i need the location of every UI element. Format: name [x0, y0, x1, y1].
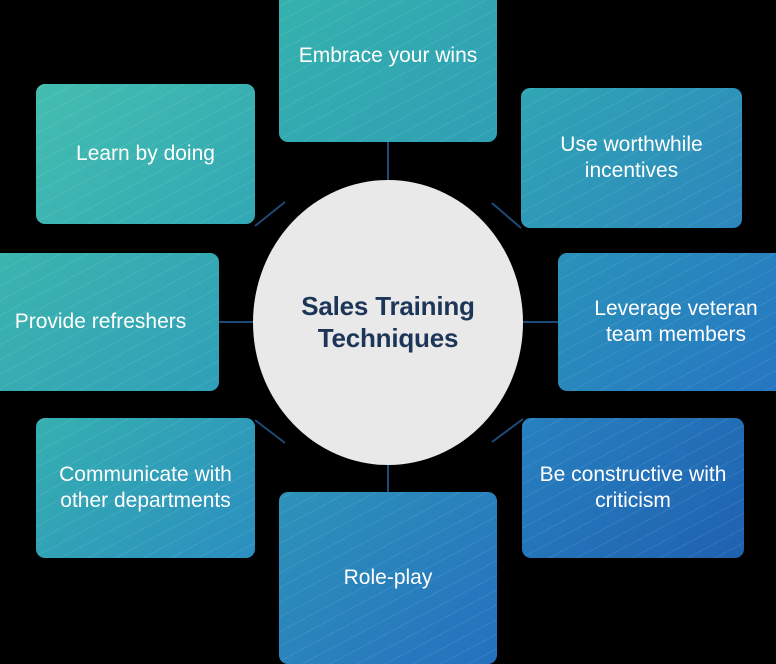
node-role-play[interactable]: Role-play — [279, 492, 497, 664]
connector-bottom-left — [255, 420, 285, 443]
diagram-canvas: Sales Training Techniques Embrace your w… — [0, 0, 776, 632]
node-label: Learn by doing — [64, 141, 227, 167]
center-hub-label: Sales Training Techniques — [287, 291, 489, 354]
node-label: Provide refreshers — [3, 309, 199, 335]
node-label: Use worthwhile incentives — [521, 132, 742, 185]
center-hub-line1: Sales Training — [301, 291, 475, 321]
node-learn-by-doing[interactable]: Learn by doing — [36, 84, 255, 224]
center-hub-line2: Techniques — [318, 323, 459, 353]
node-be-constructive-with-criticism[interactable]: Be constructive with criticism — [522, 418, 744, 558]
node-communicate-with-other-departments[interactable]: Communicate with other departments — [36, 418, 255, 558]
node-leverage-veteran-team-members[interactable]: Leverage veteran team members — [558, 253, 776, 391]
node-label: Embrace your wins — [287, 43, 490, 69]
connector-bottom-right — [492, 419, 523, 442]
node-embrace-your-wins[interactable]: Embrace your wins — [279, 0, 497, 142]
node-label: Be constructive with criticism — [522, 462, 744, 515]
node-provide-refreshers[interactable]: Provide refreshers — [0, 253, 219, 391]
center-hub: Sales Training Techniques — [253, 180, 523, 465]
connector-top-left — [255, 202, 285, 226]
connector-top-right — [492, 203, 521, 228]
node-label: Role-play — [332, 565, 445, 591]
node-use-worthwhile-incentives[interactable]: Use worthwhile incentives — [521, 88, 742, 228]
node-label: Communicate with other departments — [36, 462, 255, 515]
node-label: Leverage veteran team members — [558, 296, 776, 349]
